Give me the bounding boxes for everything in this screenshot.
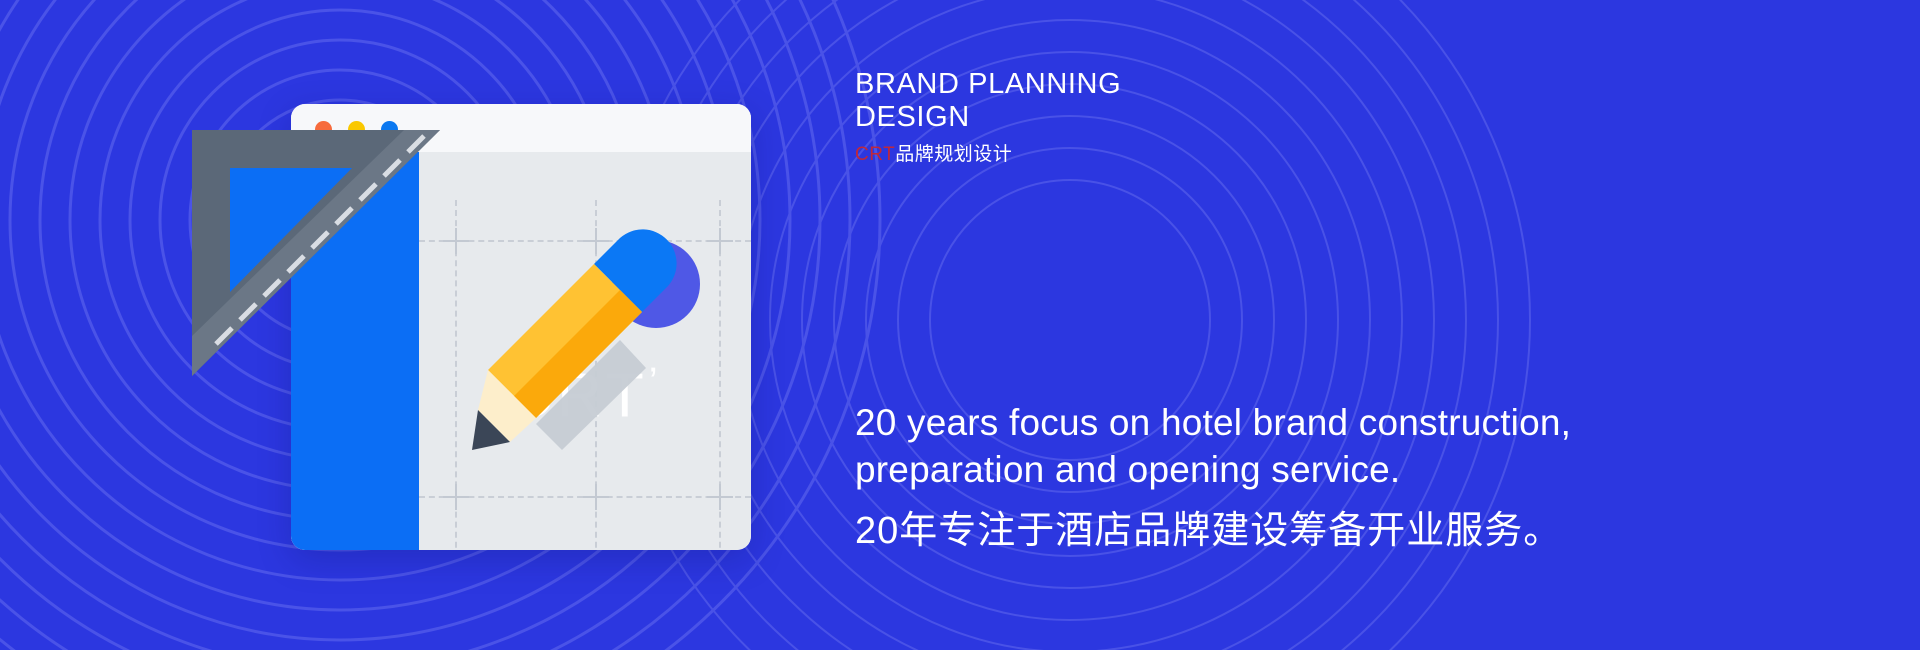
heading-line-2: DESIGN [855, 101, 970, 133]
triangle-ruler-icon [190, 128, 450, 383]
pencil-icon [470, 228, 700, 463]
heading-subtitle-brand: CRT [855, 144, 895, 165]
hero-banner: CRT’ [0, 0, 1920, 650]
lead-copy-english-line-2: preparation and opening service. [855, 449, 1400, 490]
hero-illustration: CRT’ [0, 0, 860, 650]
lead-copy-block: 20 years focus on hotel brand constructi… [855, 400, 1855, 555]
heading-title: BRAND PLANNING DESIGN [855, 68, 1121, 134]
heading-block: BRAND PLANNING DESIGN CRT品牌规划设计 [855, 68, 1121, 164]
lead-copy-english-line-1: 20 years focus on hotel brand constructi… [855, 402, 1571, 443]
heading-subtitle-text: 品牌规划设计 [895, 144, 1012, 165]
heading-line-1: BRAND PLANNING [855, 68, 1121, 100]
lead-copy-english: 20 years focus on hotel brand constructi… [855, 400, 1855, 494]
heading-subtitle: CRT品牌规划设计 [855, 145, 1121, 164]
lead-copy-chinese: 20年专注于酒店品牌建设筹备开业服务。 [855, 508, 1855, 556]
